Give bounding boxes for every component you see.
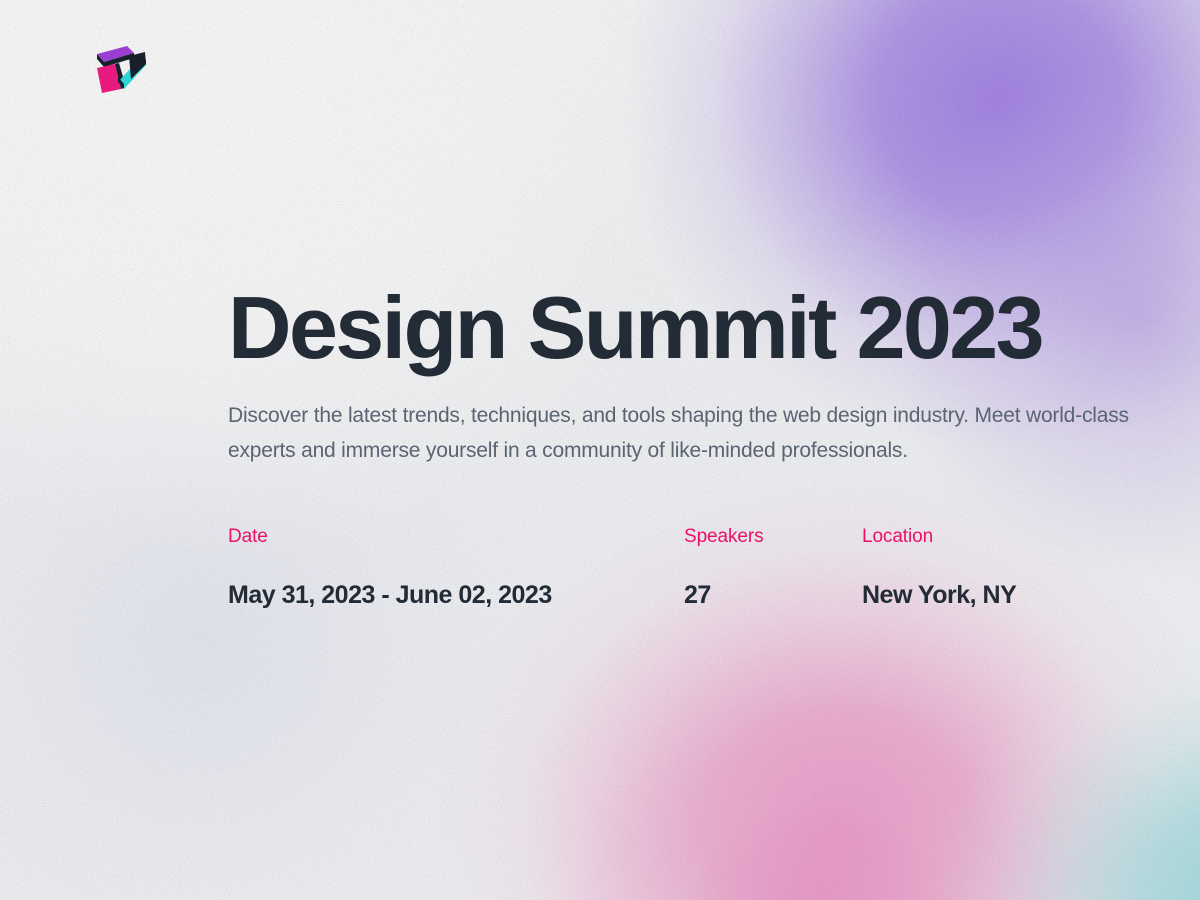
meta-item-location: Location New York, NY: [862, 524, 1016, 611]
hero-content: Design Summit 2023 Discover the latest t…: [0, 0, 1200, 900]
meta-item-date: Date May 31, 2023 - June 02, 2023: [228, 524, 552, 611]
meta-item-speakers: Speakers 27: [684, 524, 763, 611]
meta-label-date: Date: [228, 524, 552, 550]
three-wedge-prism-logo-icon[interactable]: [93, 38, 149, 94]
meta-value-date: May 31, 2023 - June 02, 2023: [228, 550, 552, 611]
meta-label-speakers: Speakers: [684, 524, 763, 550]
hero-description: Discover the latest trends, techniques, …: [228, 398, 1168, 468]
event-hero-card: Design Summit 2023 Discover the latest t…: [0, 0, 1200, 900]
meta-value-speakers: 27: [684, 550, 763, 611]
page-title: Design Summit 2023: [228, 283, 1042, 373]
meta-label-location: Location: [862, 524, 1016, 550]
meta-value-location: New York, NY: [862, 550, 1016, 611]
